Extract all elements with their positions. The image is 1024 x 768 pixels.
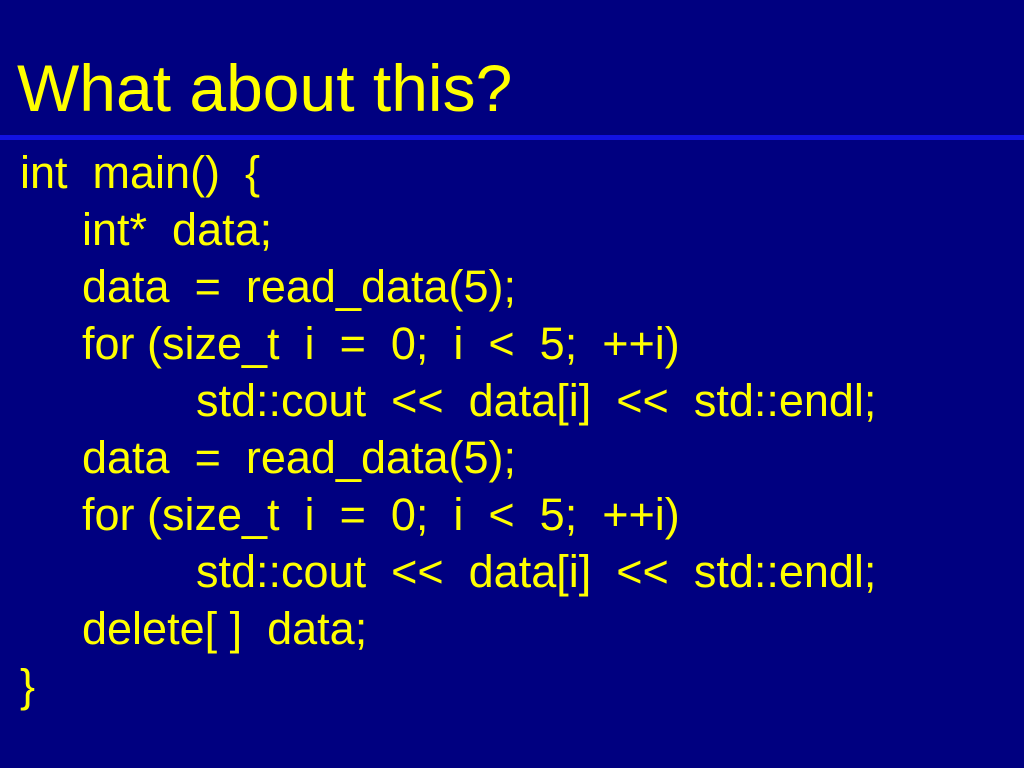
code-line: for (size_t i = 0; i < 5; ++i): [0, 486, 1024, 543]
code-line: delete[ ] data;: [0, 600, 1024, 657]
code-line: int main() {: [0, 144, 1024, 201]
presentation-slide: What about this? int main() { int* data;…: [0, 0, 1024, 768]
code-line: std::cout << data[i] << std::endl;: [0, 372, 1024, 429]
code-line: data = read_data(5);: [0, 258, 1024, 315]
page-title: What about this?: [17, 48, 1007, 128]
code-line: }: [0, 657, 1024, 714]
title-divider: [0, 135, 1024, 140]
code-line: int* data;: [0, 201, 1024, 258]
code-line: for (size_t i = 0; i < 5; ++i): [0, 315, 1024, 372]
code-block: int main() { int* data; data = read_data…: [0, 144, 1024, 714]
code-line: data = read_data(5);: [0, 429, 1024, 486]
code-line: std::cout << data[i] << std::endl;: [0, 543, 1024, 600]
